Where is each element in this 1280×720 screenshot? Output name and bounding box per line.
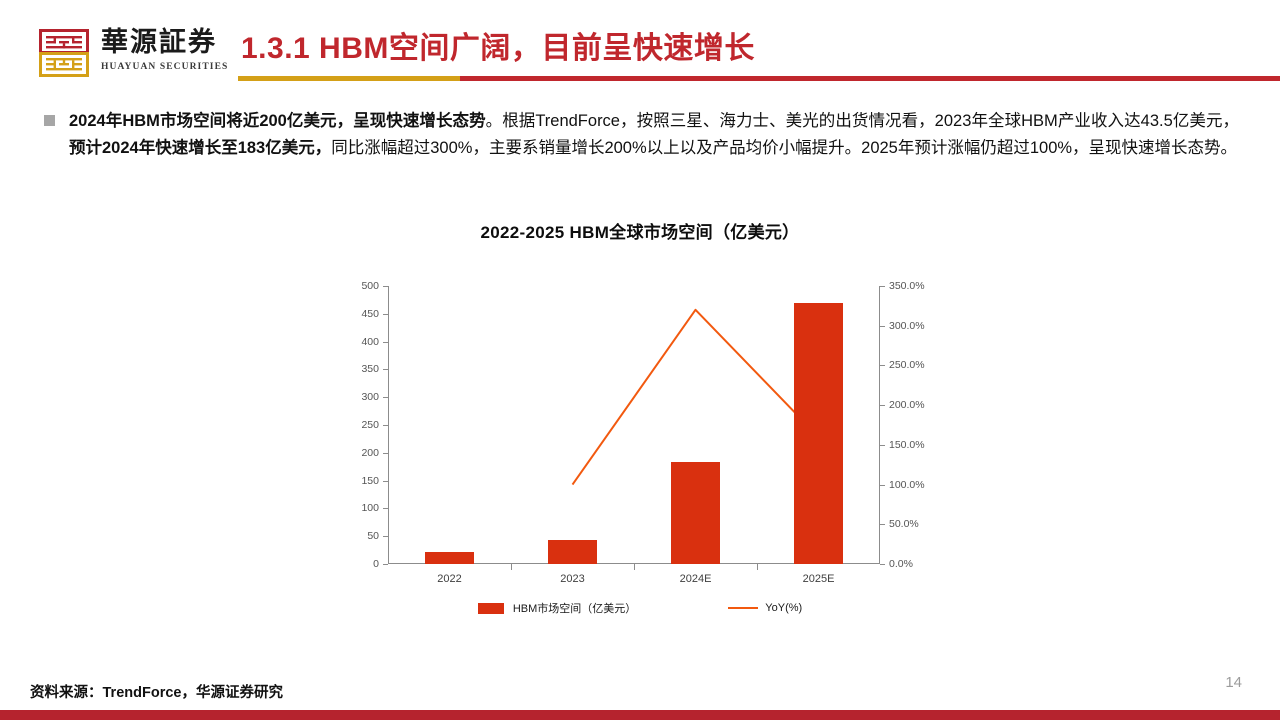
footer-bar [0, 710, 1280, 720]
y-axis-right-label: 300.0% [889, 320, 925, 332]
y-axis-right-tick [880, 405, 885, 406]
y-axis-right-tick [880, 564, 885, 565]
legend-item-line[interactable]: YoY(%) [728, 602, 802, 614]
y-axis-left-tick [383, 508, 388, 509]
y-axis-right-label: 150.0% [889, 439, 925, 451]
legend-label-bar: HBM市场空间（亿美元） [513, 600, 636, 616]
legend-label-line: YoY(%) [765, 602, 802, 614]
chart-plot-area: 0501001502002503003504004505000.0%50.0%1… [388, 286, 880, 564]
y-axis-left-tick [383, 286, 388, 287]
x-axis-label: 2025E [803, 573, 835, 585]
y-axis-right-label: 100.0% [889, 479, 925, 491]
y-axis-right-label: 350.0% [889, 280, 925, 292]
page-number: 14 [1225, 674, 1242, 691]
page-title: 1.3.1 HBM空间广阔，目前呈快速增长 [241, 29, 755, 69]
y-axis-left-label: 100 [361, 502, 379, 514]
y-axis-right-tick [880, 326, 885, 327]
x-axis-label: 2024E [680, 573, 712, 585]
company-logo: 華源証券 HUAYUAN SECURITIES [38, 27, 228, 79]
y-axis-left-label: 300 [361, 391, 379, 403]
y-axis-left-label: 350 [361, 363, 379, 375]
y-axis-right-label: 200.0% [889, 399, 925, 411]
x-axis-tick [757, 564, 758, 570]
paragraph-lead-bold: 2024年HBM市场空间将近200亿美元，呈现快速增长态势 [69, 112, 486, 130]
x-axis-tick [511, 564, 512, 570]
y-axis-left-label: 200 [361, 447, 379, 459]
chart-bar[interactable] [548, 540, 597, 564]
chart-bar[interactable] [425, 552, 474, 564]
y-axis-left-tick [383, 397, 388, 398]
divider-gold-segment [238, 76, 460, 81]
brand-text: 華源証券 HUAYUAN SECURITIES [101, 27, 228, 74]
legend-line-icon [728, 607, 758, 609]
y-axis-left-tick [383, 369, 388, 370]
y-axis-left-tick [383, 481, 388, 482]
y-axis-left-label: 50 [367, 530, 379, 542]
y-axis-left-label: 450 [361, 308, 379, 320]
y-axis-left-label: 500 [361, 280, 379, 292]
header-divider [238, 76, 1280, 81]
y-axis-left-tick [383, 342, 388, 343]
y-axis-right-tick [880, 485, 885, 486]
y-axis-left-tick [383, 564, 388, 565]
x-axis-tick [634, 564, 635, 570]
y-axis-left-tick [383, 453, 388, 454]
legend-swatch-bar-icon [478, 603, 504, 614]
y-axis-left-tick [383, 314, 388, 315]
divider-red-segment [460, 76, 1280, 81]
chart-title: 2022-2025 HBM全球市场空间（亿美元） [330, 218, 950, 243]
slide: 華源証券 HUAYUAN SECURITIES 1.3.1 HBM空间广阔，目前… [0, 0, 1280, 720]
y-axis-left-tick [383, 536, 388, 537]
paragraph-bold-2: 预计2024年快速增长至183亿美元， [69, 139, 331, 157]
square-bullet-icon [44, 115, 55, 126]
chart-bar[interactable] [671, 462, 720, 564]
slide-header: 華源証券 HUAYUAN SECURITIES 1.3.1 HBM空间广阔，目前… [0, 0, 1280, 88]
y-axis-left-label: 250 [361, 419, 379, 431]
x-axis-label: 2022 [437, 573, 461, 585]
paragraph-segment-2: 同比涨幅超过300%，主要系销量增长200%以上以及产品均价小幅提升。2025年… [331, 139, 1237, 157]
chart-legend: HBM市场空间（亿美元） YoY(%) [330, 600, 950, 616]
y-axis-left-label: 400 [361, 336, 379, 348]
source-note: 资料来源：TrendForce，华源证券研究 [30, 681, 283, 702]
yoy-polyline [573, 310, 819, 485]
y-axis-right-label: 50.0% [889, 518, 919, 530]
huayuan-seal-logo-icon [38, 27, 90, 79]
y-axis-right-label: 0.0% [889, 558, 913, 570]
chart: 2022-2025 HBM全球市场空间（亿美元） 050100150200250… [330, 218, 950, 618]
y-axis-right-tick [880, 365, 885, 366]
brand-name-cn: 華源証券 [101, 27, 228, 57]
y-axis-left-tick [383, 425, 388, 426]
brand-name-en: HUAYUAN SECURITIES [101, 60, 228, 74]
chart-bar[interactable] [794, 303, 843, 564]
paragraph-segment-1: 。根据TrendForce，按照三星、海力士、美光的出货情况看，2023年全球H… [486, 112, 1239, 130]
y-axis-right-tick [880, 286, 885, 287]
y-axis-right-label: 250.0% [889, 359, 925, 371]
y-axis-left-label: 150 [361, 475, 379, 487]
y-axis-left-label: 0 [373, 558, 379, 570]
paragraph-text: 2024年HBM市场空间将近200亿美元，呈现快速增长态势。根据TrendFor… [69, 108, 1239, 162]
y-axis-right-tick [880, 524, 885, 525]
y-axis-right-tick [880, 445, 885, 446]
x-axis-label: 2023 [560, 573, 584, 585]
bullet-paragraph: 2024年HBM市场空间将近200亿美元，呈现快速增长态势。根据TrendFor… [44, 108, 1240, 162]
legend-item-bar[interactable]: HBM市场空间（亿美元） [478, 600, 636, 616]
